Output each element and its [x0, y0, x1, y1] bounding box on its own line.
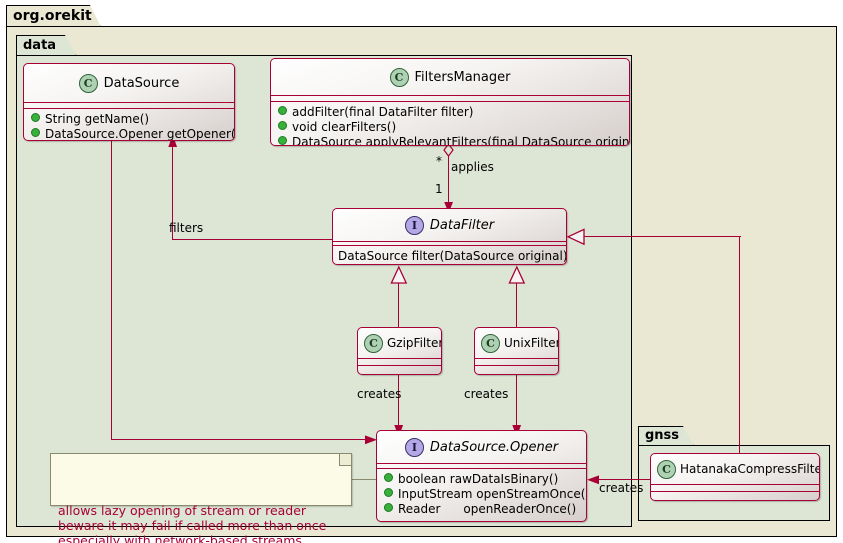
class-unixfilter-title: UnixFilter: [500, 336, 559, 350]
public-member-icon: [384, 473, 393, 482]
relation-hatanaka-creates-label: creates: [599, 482, 643, 494]
class-badge-icon: C: [79, 74, 98, 93]
member-label: InputStream openStreamOnce(): [398, 487, 587, 502]
note-fold-corner: [339, 454, 351, 466]
package-label-org-orekit: org.orekit: [7, 6, 100, 24]
public-member-icon: [31, 128, 40, 137]
class-gzipfilter[interactable]: C GzipFilter: [357, 327, 442, 375]
relation-filters-label: filters: [169, 222, 203, 234]
relation-gzip-creates-label: creates: [357, 388, 401, 400]
member-row: Reader openReaderOnce(): [384, 502, 580, 517]
class-hatanakacompressfilter-members: [651, 492, 819, 501]
class-datasource-opener-header: I DataSource.Opener: [377, 431, 586, 463]
member-row: InputStream openStreamOnce(): [384, 487, 580, 502]
class-filtersmanager-header: C FiltersManager: [271, 59, 629, 95]
class-datasource-opener-title: DataSource.Opener: [424, 440, 558, 455]
member-label: addFilter(final DataFilter filter): [292, 105, 473, 120]
class-hatanakacompressfilter-header: C HatanakaCompressFilter: [651, 454, 819, 484]
interface-badge-icon: I: [405, 438, 424, 457]
class-unixfilter-header: C UnixFilter: [475, 328, 558, 358]
member-row: void clearFilters(): [278, 120, 623, 135]
class-badge-icon: C: [390, 68, 409, 87]
class-badge-icon: C: [364, 334, 383, 353]
member-label: DataSource filter(DataSource original): [338, 249, 567, 264]
class-datafilter-header: I DataFilter: [333, 209, 566, 241]
class-badge-icon: C: [657, 460, 676, 479]
inheritance-unix-triangle: [507, 265, 527, 285]
class-datasource-members: String getName() DataSource.Opener getOp…: [24, 109, 234, 141]
class-datafilter-members: DataSource filter(DataSource original): [333, 246, 566, 265]
class-filtersmanager[interactable]: C FiltersManager addFilter(final DataFil…: [270, 58, 630, 146]
class-badge-icon: C: [481, 334, 500, 353]
member-label: String getName(): [45, 112, 149, 127]
member-row: DataSource applyRelevantFilters(final Da…: [278, 135, 623, 146]
class-datasource-title: DataSource: [98, 76, 180, 91]
relation-applies-target-multiplicity: 1: [435, 183, 443, 195]
class-gzipfilter-title: GzipFilter: [383, 336, 442, 350]
public-member-icon: [31, 113, 40, 122]
relation-datasource-opener-horizontal: [111, 439, 373, 440]
member-label: Reader openReaderOnce(): [398, 502, 576, 517]
inheritance-unix-line: [516, 283, 517, 327]
public-member-icon: [384, 503, 393, 512]
class-hatanakacompressfilter[interactable]: C HatanakaCompressFilter: [650, 453, 820, 501]
relation-unix-creates-line: [516, 375, 517, 430]
public-member-icon: [278, 136, 287, 145]
note-text: allows lazy opening of stream or reader …: [58, 503, 344, 543]
relation-unix-creates-label: creates: [464, 388, 508, 400]
class-gzipfilter-header: C GzipFilter: [358, 328, 441, 358]
interface-badge-icon: I: [405, 216, 424, 235]
public-member-icon: [278, 121, 287, 130]
member-label: void clearFilters(): [292, 120, 396, 135]
relation-gzip-creates-line: [398, 375, 399, 430]
member-row: String getName(): [31, 112, 228, 127]
class-unixfilter[interactable]: C UnixFilter: [474, 327, 559, 375]
inheritance-gzip-triangle: [389, 265, 409, 285]
uml-class-diagram: org.orekit data gnss applies * 1 filters: [0, 0, 843, 543]
member-label: DataSource applyRelevantFilters(final Da…: [292, 135, 630, 146]
relation-applies-source-multiplicity: *: [436, 155, 442, 167]
inheritance-gzip-line: [398, 283, 399, 327]
member-row: DataSource filter(DataSource original): [338, 249, 560, 264]
member-label: boolean rawDataIsBinary(): [398, 472, 558, 487]
class-datasource-opener[interactable]: I DataSource.Opener boolean rawDataIsBin…: [376, 430, 587, 522]
class-gzipfilter-members: [358, 366, 441, 375]
package-label-data: data: [17, 36, 75, 53]
class-datafilter[interactable]: I DataFilter DataSource filter(DataSourc…: [332, 208, 567, 265]
relation-applies-label: applies: [451, 161, 494, 173]
package-tab-org-orekit: org.orekit: [6, 5, 101, 27]
class-datasource[interactable]: C DataSource String getName() DataSource…: [23, 63, 235, 141]
inheritance-hatanaka-horizontal: [583, 236, 741, 237]
class-filtersmanager-title: FiltersManager: [409, 70, 511, 85]
inheritance-hatanaka-vertical: [739, 236, 740, 456]
class-filtersmanager-members: addFilter(final DataFilter filter) void …: [271, 102, 629, 146]
class-datafilter-title: DataFilter: [424, 218, 494, 233]
class-hatanakacompressfilter-title: HatanakaCompressFilter: [676, 462, 820, 476]
member-row: boolean rawDataIsBinary(): [384, 472, 580, 487]
class-datasource-header: C DataSource: [24, 64, 234, 102]
public-member-icon: [384, 488, 393, 497]
member-row: addFilter(final DataFilter filter): [278, 105, 623, 120]
inheritance-hatanaka-triangle: [566, 227, 586, 247]
relation-filters-horizontal: [172, 239, 332, 240]
note-lazy-opening: allows lazy opening of stream or reader …: [50, 453, 352, 506]
class-datasource-opener-members: boolean rawDataIsBinary() InputStream op…: [377, 469, 586, 520]
note-anchor-line: [351, 479, 377, 480]
public-member-icon: [278, 106, 287, 115]
member-label: DataSource.Opener getOpener(): [45, 127, 235, 141]
relation-datasource-opener-vertical: [111, 141, 112, 440]
member-row: DataSource.Opener getOpener(): [31, 127, 228, 141]
class-unixfilter-members: [475, 366, 558, 375]
